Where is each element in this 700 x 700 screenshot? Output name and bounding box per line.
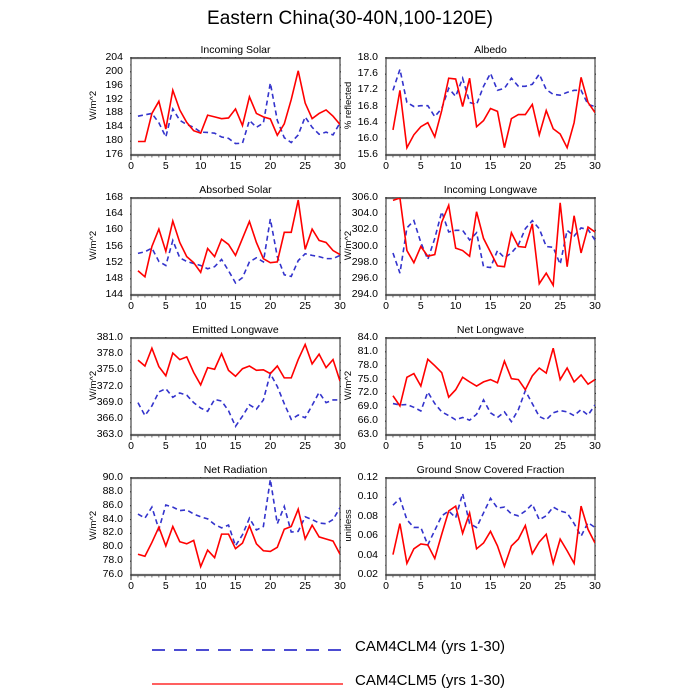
plot-area	[385, 477, 596, 586]
y-tick-label: 69.0	[318, 400, 378, 412]
y-tick-label: 72.0	[318, 386, 378, 398]
y-tick-label: 16.4	[318, 116, 378, 128]
y-tick-label: 144	[63, 288, 123, 300]
chart-panel: Emitted LongwaveW/m^2363.0366.0369.0372.…	[131, 338, 340, 435]
panel-title: Albedo	[386, 44, 595, 56]
series-line	[393, 348, 595, 406]
y-tick-label: 16.0	[318, 132, 378, 144]
y-tick-label: 78.0	[63, 554, 123, 566]
y-tick-label: 0.12	[318, 471, 378, 483]
y-tick-label: 306.0	[318, 191, 378, 203]
y-tick-label: 0.06	[318, 529, 378, 541]
chart-panel: Net RadiationW/m^276.078.080.082.084.086…	[131, 478, 340, 575]
legend-line-swatch	[150, 674, 345, 694]
y-tick-label: 78.0	[318, 359, 378, 371]
panel-title: Net Radiation	[131, 464, 340, 476]
y-tick-label: 160	[63, 223, 123, 235]
series-line	[138, 219, 340, 283]
panel-title: Incoming Solar	[131, 44, 340, 56]
y-tick-label: 0.02	[318, 568, 378, 580]
legend-line-swatch	[150, 640, 345, 660]
series-line	[138, 344, 340, 384]
chart-panel: Incoming SolarW/m^2176180184188192196200…	[131, 58, 340, 155]
y-tick-label: 372.0	[63, 380, 123, 392]
page-title: Eastern China(30-40N,100-120E)	[0, 8, 700, 30]
series-line	[138, 479, 340, 546]
y-tick-label: 168	[63, 191, 123, 203]
y-tick-label: 63.0	[318, 428, 378, 440]
y-tick-label: 156	[63, 240, 123, 252]
y-tick-label: 66.0	[318, 414, 378, 426]
y-tick-label: 188	[63, 106, 123, 118]
chart-panel: Albedo% reflected15.616.016.416.817.217.…	[386, 58, 595, 155]
y-tick-label: 204	[63, 51, 123, 63]
y-tick-label: 76.0	[63, 568, 123, 580]
y-tick-label: 366.0	[63, 412, 123, 424]
panel-title: Absorbed Solar	[131, 184, 340, 196]
panel-title: Emitted Longwave	[131, 324, 340, 336]
y-tick-label: 15.6	[318, 148, 378, 160]
y-tick-label: 18.0	[318, 51, 378, 63]
legend-item: CAM4CLM5 (yrs 1-30)	[150, 674, 570, 696]
y-tick-label: 86.0	[63, 499, 123, 511]
panel-title: Ground Snow Covered Fraction	[386, 464, 595, 476]
plot-area	[385, 337, 596, 446]
y-tick-label: 298.0	[318, 256, 378, 268]
chart-panel: Net LongwaveW/m^263.066.069.072.075.078.…	[386, 338, 595, 435]
series-line	[393, 506, 595, 566]
plot-area	[385, 57, 596, 166]
plot-area	[130, 477, 341, 586]
legend: CAM4CLM4 (yrs 1-30)CAM4CLM5 (yrs 1-30)	[0, 630, 700, 700]
y-tick-label: 16.8	[318, 100, 378, 112]
y-tick-label: 0.10	[318, 490, 378, 502]
y-tick-label: 176	[63, 148, 123, 160]
y-tick-label: 369.0	[63, 396, 123, 408]
y-tick-label: 294.0	[318, 288, 378, 300]
y-tick-label: 17.6	[318, 67, 378, 79]
y-tick-label: 88.0	[63, 485, 123, 497]
panel-title: Incoming Longwave	[386, 184, 595, 196]
y-tick-label: 82.0	[63, 526, 123, 538]
legend-item: CAM4CLM4 (yrs 1-30)	[150, 640, 570, 662]
series-line	[138, 200, 340, 277]
y-tick-label: 84.0	[63, 513, 123, 525]
y-tick-label: 196	[63, 79, 123, 91]
chart-page: Eastern China(30-40N,100-120E) Incoming …	[0, 0, 700, 700]
y-tick-label: 363.0	[63, 428, 123, 440]
y-tick-label: 17.2	[318, 83, 378, 95]
y-tick-label: 90.0	[63, 471, 123, 483]
chart-panel: Absorbed SolarW/m^2144148152156160164168…	[131, 198, 340, 295]
plot-area	[130, 337, 341, 446]
series-line	[393, 198, 595, 285]
y-tick-label: 300.0	[318, 240, 378, 252]
y-tick-label: 184	[63, 120, 123, 132]
chart-panel: Incoming LongwaveW/m^2294.0296.0298.0300…	[386, 198, 595, 295]
y-tick-label: 164	[63, 207, 123, 219]
plot-area	[130, 197, 341, 306]
series-line	[138, 374, 340, 427]
y-tick-label: 302.0	[318, 223, 378, 235]
y-tick-label: 296.0	[318, 272, 378, 284]
series-line	[138, 71, 340, 142]
y-tick-label: 148	[63, 272, 123, 284]
legend-label: CAM4CLM4 (yrs 1-30)	[355, 638, 505, 655]
series-line	[393, 391, 595, 422]
panel-title: Net Longwave	[386, 324, 595, 336]
chart-panel: Ground Snow Covered Fractionunitless0.02…	[386, 478, 595, 575]
legend-label: CAM4CLM5 (yrs 1-30)	[355, 672, 505, 689]
y-tick-label: 375.0	[63, 363, 123, 375]
y-tick-label: 304.0	[318, 207, 378, 219]
plot-area	[130, 57, 341, 166]
y-tick-label: 378.0	[63, 347, 123, 359]
y-tick-label: 80.0	[63, 540, 123, 552]
y-tick-label: 84.0	[318, 331, 378, 343]
plot-area	[385, 197, 596, 306]
y-tick-label: 0.08	[318, 510, 378, 522]
y-tick-label: 180	[63, 134, 123, 146]
series-line	[393, 77, 595, 147]
y-tick-label: 81.0	[318, 345, 378, 357]
y-tick-label: 381.0	[63, 331, 123, 343]
y-tick-label: 152	[63, 256, 123, 268]
y-tick-label: 200	[63, 65, 123, 77]
y-tick-label: 0.04	[318, 549, 378, 561]
y-tick-label: 192	[63, 93, 123, 105]
y-tick-label: 75.0	[318, 373, 378, 385]
